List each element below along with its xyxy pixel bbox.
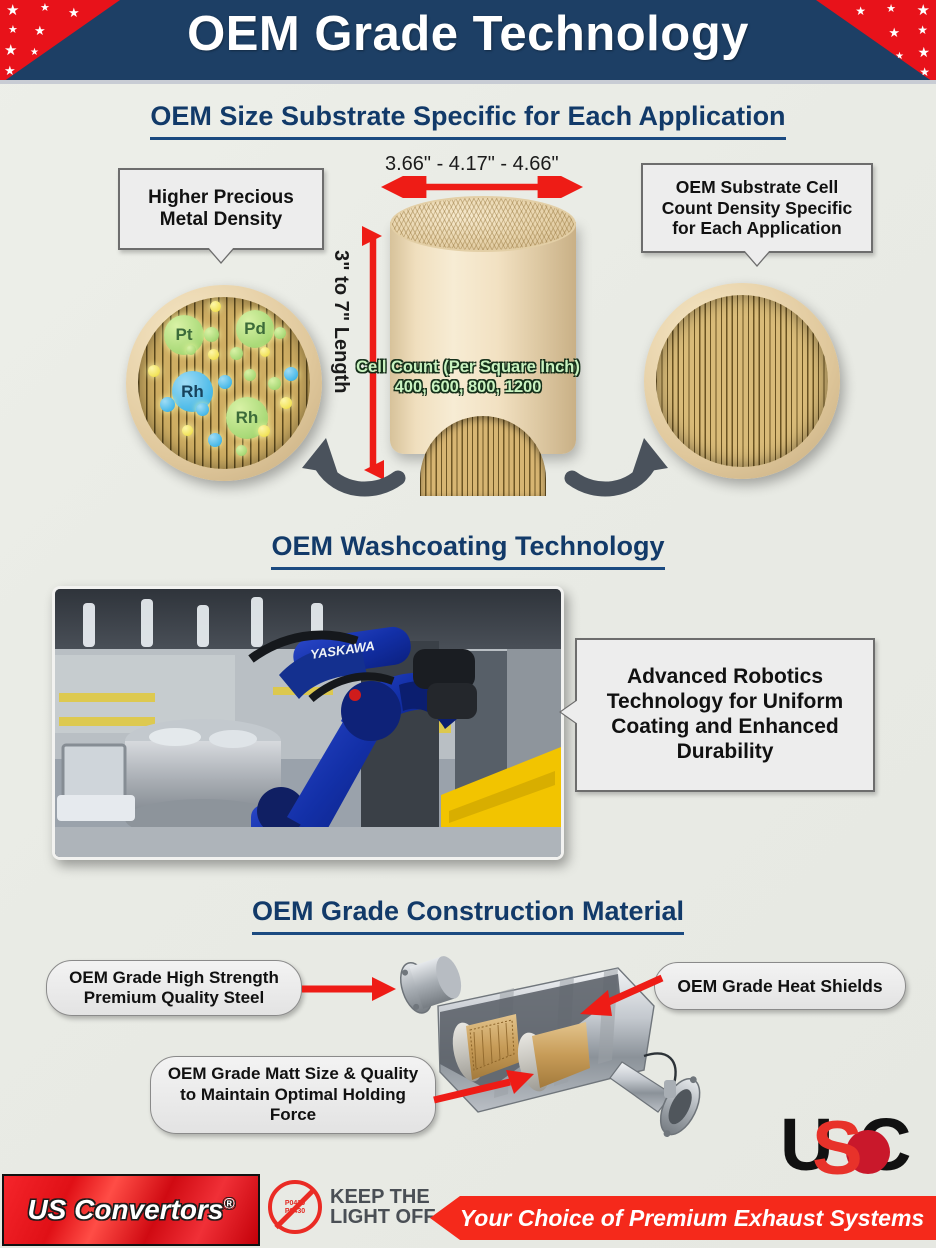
section-heading-size: OEM Size Substrate Specific for Each App…	[0, 101, 936, 140]
arrow-to-heat-shield-icon	[578, 972, 664, 1020]
svg-text:S: S	[812, 1106, 863, 1186]
callout-matt-size-text: OEM Grade Matt Size & Quality to Maintai…	[163, 1064, 423, 1125]
metal-particle	[274, 327, 286, 339]
cell-count-line1: Cell Count (Per Square Inch)	[0, 358, 936, 377]
arrow-to-steel-icon	[300, 975, 400, 1003]
metal-particle	[260, 347, 270, 357]
metal-particle	[258, 425, 270, 437]
arrow-to-matt-icon	[432, 1062, 542, 1106]
robotics-photo: YASKAWA	[52, 586, 564, 860]
cell-count-line2: 400, 600, 800, 1200	[0, 378, 936, 397]
metal-particle	[204, 327, 219, 342]
callout-precious-metal-density: Higher Precious Metal Density	[118, 168, 324, 250]
keep-line-1: KEEP THE	[330, 1187, 436, 1207]
diameter-label: 3.66" - 4.17" - 4.66"	[385, 153, 559, 176]
header-underbar	[0, 80, 936, 84]
metal-particle	[160, 397, 175, 412]
us-convertors-logo: US Convertors®	[2, 1174, 260, 1246]
metal-bubble-pd: Pd	[236, 310, 274, 348]
curved-arrow-left-icon	[290, 400, 410, 500]
metal-particle	[210, 301, 221, 312]
keep-light-off-text: KEEP THE LIGHT OFF	[330, 1187, 436, 1228]
section-heading-washcoating: OEM Washcoating Technology	[0, 531, 936, 570]
metal-particle	[186, 345, 196, 355]
section-heading-construction-text: OEM Grade Construction Material	[252, 896, 684, 935]
page-title: OEM Grade Technology	[0, 6, 936, 62]
diameter-arrow-icon	[378, 176, 586, 198]
callout-premium-steel: OEM Grade High Strength Premium Quality …	[46, 960, 302, 1016]
callout-cell-count-density-text: OEM Substrate Cell Count Density Specifi…	[651, 177, 863, 239]
page-header: ★ ★ ★ ★ ★ ★ ★ ★ ★ ★ ★ ★ ★ ★ ★ ★ OEM Grad…	[0, 0, 936, 84]
metal-particle	[182, 425, 193, 436]
us-convertors-logo-text: US Convertors®	[27, 1194, 234, 1226]
section-heading-washcoating-text: OEM Washcoating Technology	[271, 531, 664, 570]
curved-arrow-right-icon	[560, 400, 680, 500]
usc-logo: U C S	[780, 1106, 920, 1186]
callout-matt-size: OEM Grade Matt Size & Quality to Maintai…	[150, 1056, 436, 1134]
tagline-text: Your Choice of Premium Exhaust Systems	[460, 1205, 924, 1232]
keep-light-off-badge: P0420 P0430 KEEP THE LIGHT OFF	[268, 1180, 436, 1234]
substrate-cylinder	[390, 196, 576, 496]
metal-particle	[196, 403, 209, 416]
section-heading-size-text: OEM Size Substrate Specific for Each App…	[150, 101, 785, 140]
section-heading-construction: OEM Grade Construction Material	[0, 896, 936, 935]
metal-particle	[208, 433, 222, 447]
callout-heat-shields: OEM Grade Heat Shields	[654, 962, 906, 1010]
star-icon: ★	[4, 64, 16, 77]
no-symbol-icon: P0420 P0430	[268, 1180, 322, 1234]
metal-bubble-pt: Pt	[164, 315, 204, 355]
metal-particle	[236, 445, 247, 456]
callout-advanced-robotics: Advanced Robotics Technology for Uniform…	[575, 638, 875, 792]
robot-arm-illustration: YASKAWA	[55, 589, 561, 857]
cylinder-honeycomb-top	[390, 196, 576, 252]
tagline-banner: Your Choice of Premium Exhaust Systems	[430, 1196, 936, 1240]
callout-heat-shields-text: OEM Grade Heat Shields	[677, 976, 882, 997]
infographic-page: ★ ★ ★ ★ ★ ★ ★ ★ ★ ★ ★ ★ ★ ★ ★ ★ OEM Grad…	[0, 0, 936, 1248]
keep-line-2: LIGHT OFF	[330, 1207, 436, 1227]
callout-advanced-robotics-text: Advanced Robotics Technology for Uniform…	[585, 665, 865, 764]
callout-premium-steel-text: OEM Grade High Strength Premium Quality …	[59, 968, 289, 1009]
callout-precious-metal-density-text: Higher Precious Metal Density	[128, 187, 314, 232]
star-icon: ★	[919, 66, 930, 79]
callout-cell-count-density: OEM Substrate Cell Count Density Specifi…	[641, 163, 873, 253]
